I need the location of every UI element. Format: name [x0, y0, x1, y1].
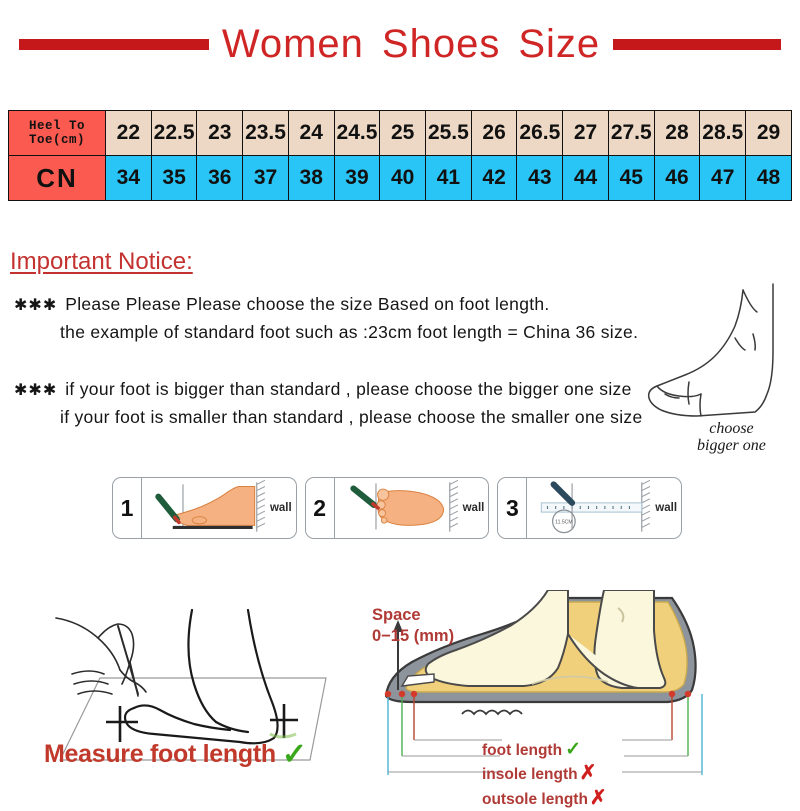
- choose-bigger-one-caption: choose bigger one: [697, 421, 766, 455]
- foot-length-label: foot length✓: [482, 738, 607, 761]
- insole-length-text: insole length: [482, 766, 578, 783]
- check-mark-icon: ✓: [565, 739, 581, 760]
- cn-cell: 47: [700, 156, 746, 201]
- page-title-row: WomenShoesSize: [0, 18, 800, 70]
- space-label: Space 0−15 (mm): [372, 605, 454, 647]
- ruler-badge-text: 11.5CM: [555, 519, 573, 525]
- cm-cell: 22: [106, 111, 152, 156]
- bullet-stars-icon: ✱✱✱: [14, 297, 57, 314]
- bullet-stars-icon: ✱✱✱: [14, 382, 57, 399]
- step-number-2: 2: [306, 478, 335, 538]
- title-word-1: Women: [222, 22, 364, 66]
- outsole-length-label: outsole length✗: [482, 786, 607, 811]
- step-3-illustration: 11.5CM wall: [527, 478, 681, 538]
- cm-cell: 28: [654, 111, 700, 156]
- step-number-1: 1: [113, 478, 142, 538]
- cross-mark-icon: ✗: [590, 787, 607, 809]
- cn-cell: 37: [243, 156, 289, 201]
- space-label-line-2: 0−15 (mm): [372, 626, 454, 647]
- measurement-steps: 1 wall 2: [112, 477, 682, 539]
- cm-cell: 27: [563, 111, 609, 156]
- cn-cell: 41: [426, 156, 472, 201]
- notice-line-2: the example of standard foot such as :23…: [60, 322, 638, 343]
- cn-cell: 38: [288, 156, 334, 201]
- cn-cell: 44: [563, 156, 609, 201]
- step-panel-2: 2 wall: [305, 477, 490, 539]
- check-mark-icon: ✓: [282, 737, 307, 772]
- row-label-cn: CN: [9, 156, 106, 201]
- step-number-3: 3: [498, 478, 527, 538]
- title-word-3: Size: [518, 22, 600, 66]
- size-chart-table: Heel To Toe(cm) 22 22.5 23 23.5 24 24.5 …: [8, 110, 792, 201]
- step-panel-1: 1 wall: [112, 477, 297, 539]
- row-label-heel-to-toe: Heel To Toe(cm): [9, 111, 106, 156]
- cm-cell: 26.5: [517, 111, 563, 156]
- cm-cell: 25: [380, 111, 426, 156]
- space-label-line-1: Space: [372, 605, 454, 626]
- table-row-cn: CN 34 35 36 37 38 39 40 41 42 43 44 45 4…: [9, 156, 792, 201]
- page-title: WomenShoesSize: [209, 22, 613, 67]
- measure-caption-text: Measure foot length: [44, 740, 276, 768]
- insole-length-label: insole length✗: [482, 761, 607, 786]
- foot-length-text: foot length: [482, 742, 562, 759]
- cn-cell: 48: [746, 156, 792, 201]
- cm-cell: 26: [471, 111, 517, 156]
- cm-cell: 25.5: [426, 111, 472, 156]
- cm-cell: 24: [288, 111, 334, 156]
- cn-cell: 46: [654, 156, 700, 201]
- measure-foot-length-caption: Measure foot length✓: [44, 737, 307, 772]
- title-word-2: Shoes: [382, 22, 500, 66]
- choose-caption-line-2: bigger one: [697, 438, 766, 455]
- choose-caption-line-1: choose: [697, 421, 766, 438]
- step-2-illustration: wall: [335, 478, 489, 538]
- cm-cell: 27.5: [608, 111, 654, 156]
- cm-cell: 23.5: [243, 111, 289, 156]
- cn-cell: 42: [471, 156, 517, 201]
- cn-cell: 34: [106, 156, 152, 201]
- cn-cell: 39: [334, 156, 380, 201]
- cm-cell: 23: [197, 111, 243, 156]
- cn-cell: 43: [517, 156, 563, 201]
- cm-cell: 29: [746, 111, 792, 156]
- cn-cell: 36: [197, 156, 243, 201]
- wall-label-3: wall: [655, 502, 677, 514]
- wall-label-1: wall: [270, 502, 292, 514]
- table-row-heel-to-toe: Heel To Toe(cm) 22 22.5 23 23.5 24 24.5 …: [9, 111, 792, 156]
- outsole-length-text: outsole length: [482, 791, 588, 808]
- cn-cell: 40: [380, 156, 426, 201]
- cross-mark-icon: ✗: [580, 762, 597, 784]
- step-1-illustration: wall: [142, 478, 296, 538]
- cn-cell: 35: [151, 156, 197, 201]
- notice-line-4: if your foot is smaller than standard , …: [60, 407, 643, 428]
- cm-cell: 28.5: [700, 111, 746, 156]
- cm-cell: 22.5: [151, 111, 197, 156]
- notice-line-3: ✱✱✱if your foot is bigger than standard …: [14, 379, 632, 400]
- title-rule-right: [613, 39, 781, 50]
- notice-line-1: ✱✱✱Please Please Please choose the size …: [14, 294, 550, 315]
- important-notice-heading: Important Notice:: [10, 248, 193, 276]
- step-panel-3: 3: [497, 477, 682, 539]
- notice-line-3-text: if your foot is bigger than standard , p…: [65, 379, 631, 399]
- title-rule-left: [19, 39, 209, 50]
- notice-line-1-text: Please Please Please choose the size Bas…: [65, 294, 549, 314]
- cm-cell: 24.5: [334, 111, 380, 156]
- cn-cell: 45: [608, 156, 654, 201]
- wall-label-2: wall: [463, 502, 485, 514]
